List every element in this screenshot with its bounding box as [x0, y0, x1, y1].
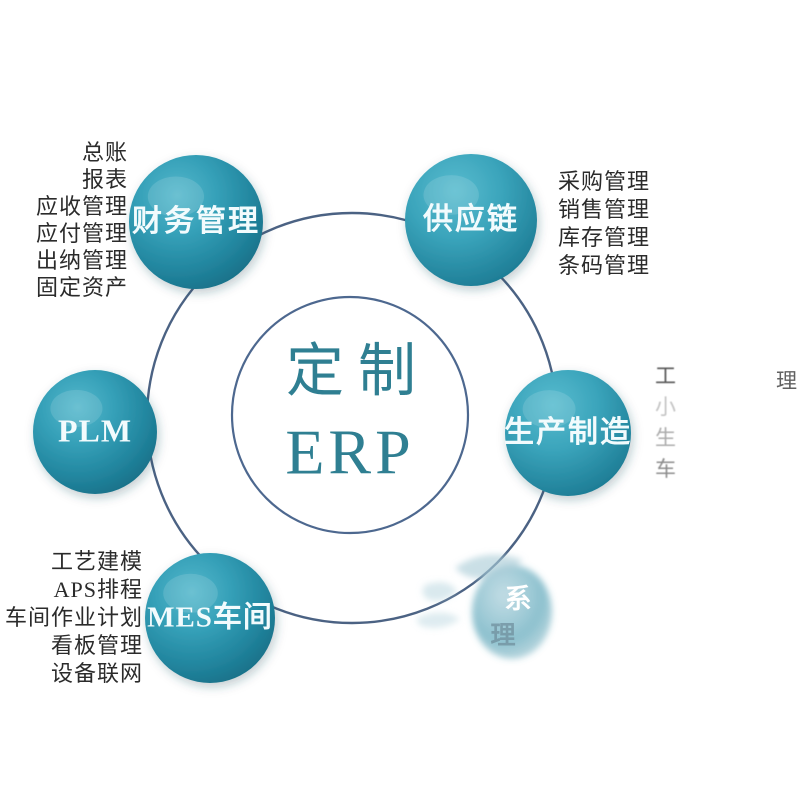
faded-text-layer: 工小生车理 — [655, 364, 797, 481]
node-label-mes: MES车间 — [147, 600, 273, 634]
bullet-item: 出纳管理 — [36, 248, 128, 273]
node-label-supply-chain: 供应链 — [422, 202, 519, 236]
bullet-item: 采购管理 — [558, 169, 650, 194]
bullet-item: 设备联网 — [51, 661, 143, 686]
bullet-group-supply-chain: 采购管理销售管理库存管理条码管理 — [558, 169, 650, 278]
node-mes[interactable]: MES车间 — [145, 553, 275, 683]
bullet-item: 总账 — [82, 140, 128, 165]
node-label-production: 生产制造 — [504, 416, 632, 449]
center-title-en: ERP — [285, 417, 414, 488]
bullet-group-mes: 工艺建模APS排程车间作业计划看板管理设备联网 — [5, 549, 143, 686]
node-production[interactable]: 生产制造 — [504, 370, 632, 496]
center-circle-ring — [232, 297, 468, 533]
erp-circular-diagram: 系 理 定制 ERP 财务管理供应链PLM生产制造MES车间 总账报表应收管理应… — [0, 0, 800, 800]
bullet-item: 销售管理 — [558, 197, 650, 222]
bullet-item: 库存管理 — [558, 225, 650, 250]
bullet-item: 应收管理 — [36, 194, 128, 219]
node-label-plm: PLM — [58, 412, 132, 448]
bullet-item: 应付管理 — [36, 221, 128, 246]
ghost-fragment-secondary: 理 — [490, 623, 515, 650]
node-supply-chain[interactable]: 供应链 — [405, 154, 537, 286]
node-label-finance: 财务管理 — [132, 205, 260, 238]
bullet-item: 看板管理 — [51, 633, 143, 658]
bullet-item: 工艺建模 — [51, 549, 143, 574]
node-plm[interactable]: PLM — [33, 370, 157, 494]
bullet-item: APS排程 — [54, 577, 143, 602]
erased-ghost-node — [417, 555, 552, 659]
node-finance[interactable]: 财务管理 — [129, 155, 263, 289]
faded-text-line: 生 — [655, 426, 676, 450]
faded-text-line: 车 — [655, 457, 676, 481]
bullet-group-finance: 总账报表应收管理应付管理出纳管理固定资产 — [36, 140, 128, 300]
bullet-item: 固定资产 — [36, 275, 128, 300]
ghost-smear-lower — [417, 612, 460, 628]
bullet-item: 条码管理 — [558, 253, 650, 278]
bullet-item: 报表 — [82, 167, 128, 192]
faded-text-line: 工 — [655, 364, 676, 388]
center-title-cn: 定制 — [286, 338, 430, 403]
center-node: 定制 ERP — [232, 297, 468, 533]
faded-text-line: 小 — [655, 395, 676, 419]
faded-isolated-char: 理 — [776, 369, 797, 393]
bullet-item: 车间作业计划 — [5, 605, 143, 630]
diagram-canvas: 系 理 定制 ERP 财务管理供应链PLM生产制造MES车间 总账报表应收管理应… — [0, 0, 800, 800]
ghost-fragment-primary: 系 — [505, 584, 532, 614]
